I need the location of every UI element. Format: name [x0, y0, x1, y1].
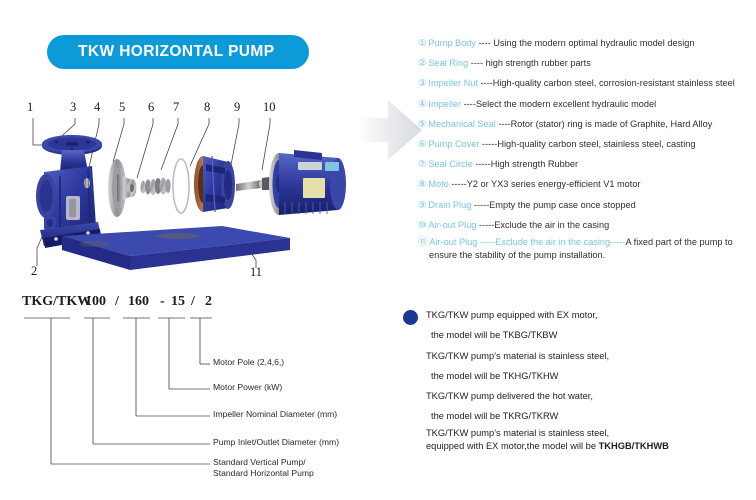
breakdown-label-motor-power: Motor Power (kW)	[213, 382, 282, 393]
flow-arrow-container	[358, 93, 424, 167]
page-title: TKW HORIZONTAL PUMP	[78, 43, 274, 61]
legend-item-10-sep: -----	[476, 220, 494, 230]
callout-number-3: 3	[70, 100, 76, 115]
legend-item-9-sep: -----	[471, 200, 489, 210]
legend-item-10: ⑩Air-out Plug -----Exclude the air in th…	[418, 215, 754, 235]
bullet-dot-icon	[403, 310, 418, 325]
callout-number-4: 4	[94, 100, 100, 115]
legend-item-7-sep: -----	[473, 159, 491, 169]
note-line-3: TKG/TKW pump's material is stainless ste…	[426, 346, 753, 366]
legend-item-9-number: ⑨	[418, 199, 426, 210]
legend-item-4-part: Impeller	[428, 99, 461, 109]
note-line-6: the model will be TKRG/TKRW	[426, 406, 753, 426]
callout-number-9: 9	[234, 100, 240, 115]
breakdown-label-motor-pole: Motor Pole (2,4,6,)	[213, 357, 284, 368]
callout-number-10: 10	[263, 100, 276, 115]
legend-item-7-desc: High strength Rubber	[491, 159, 578, 169]
breakdown-label-standard-horizontal: Standard Horizontal Pump	[213, 468, 314, 479]
callout-number-5: 5	[119, 100, 125, 115]
breakdown-label-inlet-diameter: Pump Inlet/Outlet Diameter (mm)	[213, 437, 339, 448]
legend-item-5-desc: Rotor (stator) ring is made of Graphite,…	[511, 119, 713, 129]
legend-item-8: ⑧Moto -----Y2 or YX3 series energy-effic…	[418, 174, 754, 194]
legend-item-6-part: Pump Cover	[428, 139, 479, 149]
legend-item-11-part: Air-out Plug -----Exclude the air in the…	[429, 237, 610, 247]
legend-item-7: ⑦Seal Circle -----High strength Rubber	[418, 154, 754, 174]
note-line-1: TKG/TKW pump equipped with EX motor,	[426, 305, 753, 325]
legend-item-1-number: ①	[418, 37, 426, 48]
legend-item-11-sep: -----	[610, 237, 625, 247]
legend-item-6-number: ⑥	[418, 138, 426, 149]
legend-item-2-part: Seal Ring	[428, 58, 468, 68]
legend-item-8-number: ⑧	[418, 178, 426, 189]
legend-item-1-sep: ----	[476, 38, 493, 48]
legend-item-3-desc: High-quality carbon steel, corrosion-res…	[493, 78, 735, 88]
callout-number-2: 2	[31, 264, 37, 279]
note-line-7: TKG/TKW pump's material is stainless ste…	[426, 427, 753, 440]
note-line-5: TKG/TKW pump delivered the hot water,	[426, 386, 753, 406]
note-line-8-prefix: equipped with EX motor,the model will be	[426, 441, 599, 451]
note-line-4: the model will be TKHG/TKHW	[426, 366, 753, 386]
callout-number-7: 7	[173, 100, 179, 115]
legend-item-10-part: Air-out Plug	[428, 220, 476, 230]
legend-item-11-desc: A fixed part of the pump to	[625, 237, 732, 247]
legend-item-4: ④Impeller ----Select the modern excellen…	[418, 94, 754, 114]
legend-item-7-number: ⑦	[418, 158, 426, 169]
legend-item-9-desc: Empty the pump case once stopped	[489, 200, 636, 210]
note-line-2: the model will be TKBG/TKBW	[426, 325, 753, 345]
legend-item-5-number: ⑤	[418, 118, 426, 129]
legend-item-11-number: ⑪	[418, 236, 427, 247]
legend-item-4-desc: Select the modern excellent hydraulic mo…	[476, 99, 656, 109]
legend-item-10-number: ⑩	[418, 219, 426, 230]
notes-lines: TKG/TKW pump equipped with EX motor, the…	[426, 305, 753, 453]
legend-item-9: ⑨Drain Plug -----Empty the pump case onc…	[418, 195, 754, 215]
legend-item-2: ②Seal Ring ---- high strength rubber par…	[418, 53, 754, 73]
legend-item-5: ⑤Mechanical Seal ----Rotor (stator) ring…	[418, 114, 754, 134]
exploded-pump-illustration: 1 2 3 4 5 6 7 8 9 10 11	[0, 98, 360, 288]
legend-item-6-desc: High-quality carbon steel, stainless ste…	[497, 139, 695, 149]
legend-item-9-part: Drain Plug	[428, 200, 471, 210]
flow-arrow-right-icon	[358, 93, 424, 167]
callout-number-8: 8	[204, 100, 210, 115]
parts-legend-list: ①Pump Body ---- Using the modern optimal…	[418, 33, 754, 263]
page-title-banner: TKW HORIZONTAL PUMP	[47, 35, 309, 69]
legend-item-3-part: Impeller Nut	[428, 78, 478, 88]
legend-item-8-desc: Y2 or YX3 series energy-efficient V1 mot…	[467, 179, 641, 189]
note-line-8-model: TKHGB/TKHWB	[599, 441, 669, 451]
legend-item-10-desc: Exclude the air in the casing	[494, 220, 609, 230]
legend-item-6: ⑥Pump Cover -----High-quality carbon ste…	[418, 134, 754, 154]
legend-item-2-number: ②	[418, 57, 426, 68]
breakdown-label-impeller-diameter: Impeller Nominal Diameter (mm)	[213, 409, 337, 420]
legend-item-8-sep: -----	[449, 179, 467, 189]
legend-item-11-desc-line2: ensure the stability of the pump install…	[418, 249, 754, 262]
legend-item-4-sep: ----	[461, 99, 476, 109]
legend-item-6-sep: -----	[479, 139, 497, 149]
model-code-breakdown: TKG/TKW 100 / 160 - 15 / 2 Motor P	[0, 292, 400, 500]
legend-item-4-number: ④	[418, 98, 426, 109]
legend-item-1: ①Pump Body ---- Using the modern optimal…	[418, 33, 754, 53]
legend-item-1-part: Pump Body	[428, 38, 476, 48]
callout-number-11: 11	[250, 265, 262, 280]
legend-item-2-sep: ----	[468, 58, 485, 68]
legend-item-5-sep: ----	[496, 119, 511, 129]
legend-item-1-desc: Using the modern optimal hydraulic model…	[493, 38, 694, 48]
breakdown-label-standard-vertical: Standard Vertical Pump/	[213, 457, 306, 468]
legend-item-11: ⑪Air-out Plug -----Exclude the air in th…	[418, 235, 754, 263]
legend-item-3: ③Impeller Nut ----High-quality carbon st…	[418, 73, 754, 93]
model-variant-notes: TKG/TKW pump equipped with EX motor, the…	[403, 305, 753, 453]
callout-number-6: 6	[148, 100, 154, 115]
legend-item-8-part: Moto	[428, 179, 448, 189]
breakdown-leader-lines	[0, 292, 400, 500]
legend-item-3-number: ③	[418, 77, 426, 88]
legend-item-5-part: Mechanical Seal	[428, 119, 495, 129]
callout-number-1: 1	[27, 100, 33, 115]
legend-item-7-part: Seal Circle	[428, 159, 472, 169]
pump-parts-drawing	[0, 98, 360, 288]
legend-item-3-sep: ----	[478, 78, 493, 88]
note-line-8: equipped with EX motor,the model will be…	[426, 440, 753, 453]
legend-item-2-desc: high strength rubber parts	[486, 58, 591, 68]
